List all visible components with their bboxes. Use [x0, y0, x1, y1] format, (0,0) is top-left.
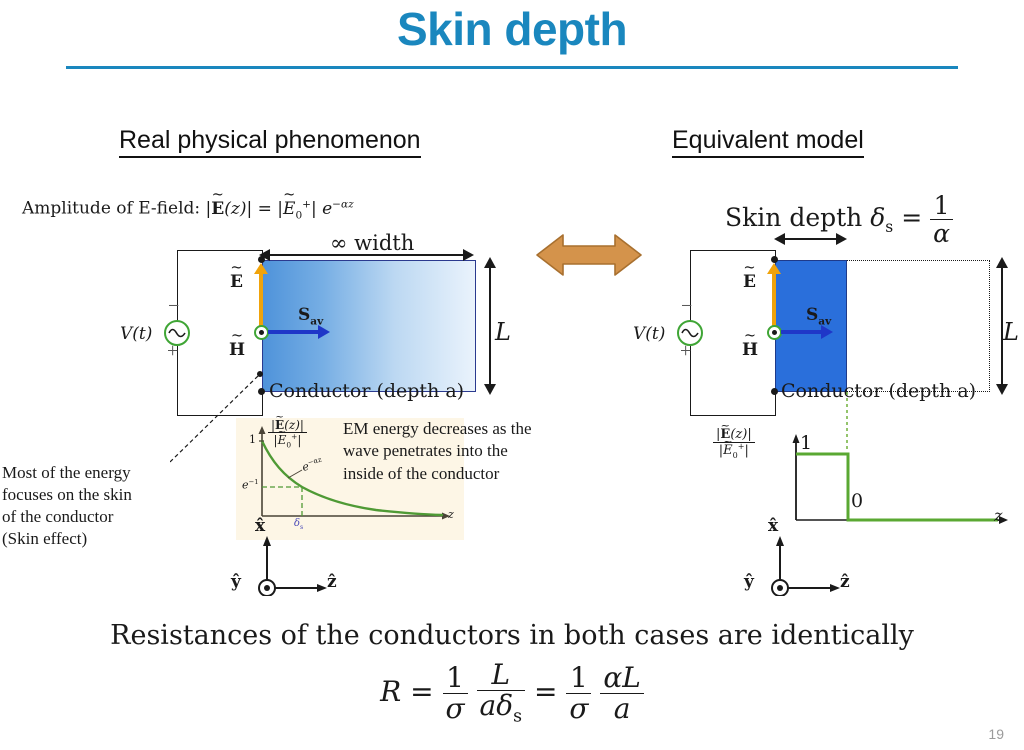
right-poynting-arrow-shaft — [781, 330, 823, 334]
delta-symbol: δ — [870, 203, 885, 232]
step-ylabel-num: |E(z)| — [713, 428, 755, 442]
left-height-arrow-head-bottom — [484, 384, 496, 395]
left-h-field-into-page-icon — [254, 325, 269, 340]
page-number: 19 — [988, 726, 1004, 742]
skin-effect-line-1: Most of the energy — [2, 462, 132, 484]
amplitude-formula-prefix: Amplitude of E-field: — [22, 199, 200, 219]
left-h-field-label: H — [229, 340, 245, 360]
section-heading-equivalent-model: Equivalent model — [672, 126, 864, 158]
resistance-equation: R = 1 σ L aδs = 1 σ αL a — [0, 660, 1024, 727]
triad-left-x-hat: x̂ — [255, 516, 265, 536]
right-e-field-arrow-shaft — [772, 273, 776, 333]
right-height-label: L — [1003, 318, 1019, 346]
equals-sign: = — [258, 199, 272, 219]
skin-effect-line-3: of the conductor — [2, 506, 132, 528]
right-e-field-label: E — [743, 272, 756, 292]
conclusion-statement: Resistances of the conductors in both ca… — [0, 620, 1024, 651]
resistance-f2-den: aδs — [477, 690, 525, 726]
resistance-fraction-2: L aδs — [477, 660, 525, 727]
e-field-symbol: E — [211, 199, 224, 219]
inset-ytick-1: 1 — [249, 433, 256, 446]
triad-right-z-hat: ẑ — [840, 572, 850, 592]
left-width-label: ∞ width — [330, 231, 414, 255]
right-h-field-label: H — [742, 340, 758, 360]
exp-power: −αz — [332, 198, 353, 210]
right-skin-depth-arrow-head-left — [774, 233, 785, 245]
delta-subscript: s — [885, 218, 893, 236]
fraction-numerator: 1 — [930, 192, 953, 219]
fraction-denominator: α — [930, 219, 953, 247]
abs-bar-close-2: | — [311, 199, 317, 219]
right-poynting-label: Sav — [806, 305, 831, 327]
triad-left-z-hat: ẑ — [327, 572, 337, 592]
left-height-arrow-head-top — [484, 257, 496, 268]
left-height-measure-line — [489, 265, 491, 387]
bidirectional-equivalence-arrow — [535, 230, 643, 280]
left-poynting-label: Sav — [298, 305, 323, 327]
resistance-f4-den: a — [600, 693, 644, 724]
em-energy-line-1: EM energy decreases as the — [343, 418, 532, 440]
e0-superscript: + — [302, 198, 311, 210]
left-width-arrow-head-left — [259, 249, 270, 261]
step-chart-xlabel: z — [994, 506, 1002, 525]
inset-chart-ylabel: |E(z)| |E0+| — [268, 419, 307, 449]
right-height-arrow-head-bottom — [996, 384, 1008, 395]
right-h-field-into-page-icon — [767, 325, 782, 340]
page-title: Skin depth — [0, 2, 1024, 56]
resistance-equals-2: = — [534, 675, 557, 708]
left-conductor-block — [262, 260, 476, 392]
left-source-label: V(t) — [120, 324, 152, 344]
inset-ylabel-num: |E(z)| — [268, 419, 307, 432]
right-skin-depth-arrow-head-right — [836, 233, 847, 245]
abs-bar-close: | — [246, 199, 252, 219]
resistance-fraction-1: 1 σ — [443, 663, 468, 724]
resistance-f2-num: L — [477, 660, 525, 690]
step-chart-ylabel: |E(z)| |E0+| — [713, 428, 755, 461]
em-energy-line-2: wave penetrates into the — [343, 440, 532, 462]
coordinate-triad-left: x̂ ŷ ẑ — [243, 530, 343, 596]
equals-sign-skin-depth: = — [901, 203, 922, 232]
em-energy-callout-text: EM energy decreases as the wave penetrat… — [343, 418, 532, 485]
left-width-arrow-head-right — [463, 249, 474, 261]
resistance-f1-den: σ — [443, 693, 468, 724]
left-height-label: L — [495, 318, 511, 346]
right-source-minus-sign: − — [681, 296, 692, 316]
step-ylabel-den: |E0+| — [713, 442, 755, 461]
amplitude-formula: Amplitude of E-field: |E(z)| = |E0+| e−α… — [22, 198, 354, 221]
coordinate-triad-right: x̂ ŷ ẑ — [756, 530, 856, 596]
resistance-equals-1: = — [410, 675, 433, 708]
step-function-chart: 1 0 z — [782, 428, 1024, 538]
title-underline-rule — [66, 66, 958, 69]
e0-subscript: 0 — [295, 209, 302, 221]
right-source-plus-sign: + — [680, 341, 691, 361]
left-poynting-arrow-shaft — [268, 330, 320, 334]
right-e-field-arrow-head — [767, 263, 781, 274]
resistance-fraction-4: αL a — [600, 663, 644, 724]
section-heading-real-phenomenon: Real physical phenomenon — [119, 126, 421, 158]
inset-ytick-einv: e−1 — [242, 478, 259, 492]
right-corner-dot-top — [771, 256, 778, 263]
triad-right-y-hat: ŷ — [744, 572, 754, 592]
skin-depth-fraction: 1 α — [930, 192, 953, 247]
step-chart-ytick-0: 0 — [851, 490, 863, 512]
arg-of-z: (z) — [224, 199, 246, 219]
left-e-field-label: E — [230, 272, 243, 292]
right-conductor-caption: Conductor (depth a) — [781, 380, 976, 402]
right-skin-depth-measure-line — [782, 238, 840, 240]
left-source-plus-sign: + — [167, 341, 178, 361]
left-conductor-caption: Conductor (depth a) — [269, 380, 464, 402]
amplitude-formula-body: |E(z)| = |E0+| e−αz — [206, 199, 354, 219]
left-e-field-arrow-shaft — [259, 273, 263, 333]
resistance-symbol: R — [380, 675, 401, 708]
resistance-f3-num: 1 — [566, 663, 591, 693]
em-energy-line-3: inside of the conductor — [343, 463, 532, 485]
resistance-f4-num: αL — [600, 663, 644, 693]
right-height-arrow-head-top — [996, 257, 1008, 268]
resistance-f3-den: σ — [566, 693, 591, 724]
triad-left-y-hat: ŷ — [231, 572, 241, 592]
skin-depth-label: Skin depth — [725, 203, 862, 232]
right-corner-dot-bottom — [771, 388, 778, 395]
right-source-label: V(t) — [633, 324, 665, 344]
left-source-minus-sign: − — [168, 296, 179, 316]
triad-right-x-hat: x̂ — [768, 516, 778, 536]
inset-ylabel-den: |E0+| — [268, 432, 307, 449]
resistance-fraction-3: 1 σ — [566, 663, 591, 724]
skin-effect-line-2: focuses on the skin — [2, 484, 132, 506]
skin-effect-callout-text: Most of the energy focuses on the skin o… — [2, 462, 132, 550]
inset-chart-xlabel: z — [448, 508, 454, 521]
skin-effect-line-4: (Skin effect) — [2, 528, 132, 550]
step-chart-ytick-1: 1 — [800, 432, 812, 454]
left-e-field-arrow-head — [254, 263, 268, 274]
e0-symbol: E — [283, 199, 295, 219]
resistance-f1-num: 1 — [443, 663, 468, 693]
exp-base: e — [322, 199, 332, 219]
